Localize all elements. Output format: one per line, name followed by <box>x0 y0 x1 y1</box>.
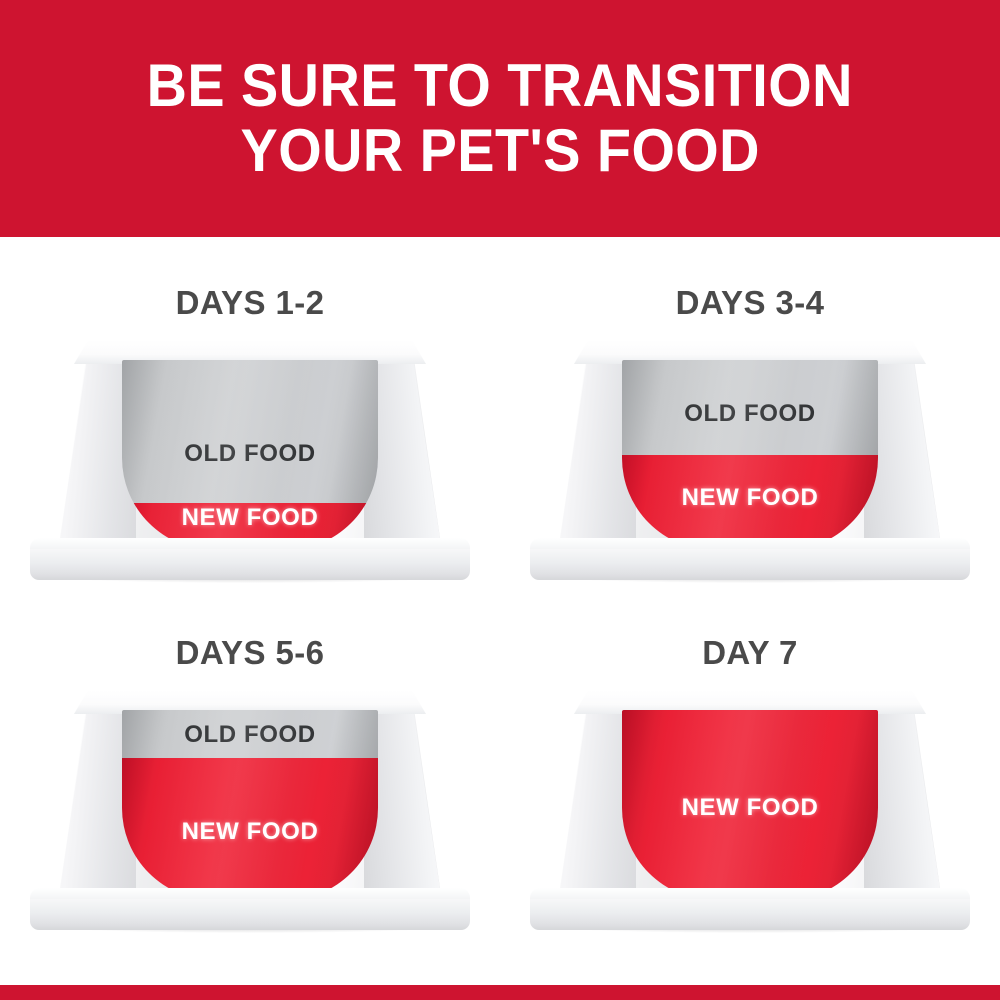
food-stack: OLD FOOD NEW FOOD <box>622 360 878 550</box>
old-food-label: OLD FOOD <box>184 721 315 749</box>
bowl-title: DAY 7 <box>500 634 1000 672</box>
new-food-label: NEW FOOD <box>182 504 319 532</box>
old-food-portion: OLD FOOD <box>122 710 378 758</box>
new-food-portion: NEW FOOD <box>622 710 878 900</box>
bowl-illustration: OLD FOOD NEW FOOD <box>530 340 970 585</box>
food-stack: OLD FOOD NEW FOOD <box>122 360 378 550</box>
header-title-line-1: BE SURE TO TRANSITION <box>147 54 853 118</box>
new-food-label: NEW FOOD <box>682 794 819 822</box>
new-food-label: NEW FOOD <box>682 484 819 512</box>
bowl-food-well: OLD FOOD NEW FOOD <box>122 710 378 900</box>
bowl-illustration: OLD FOOD NEW FOOD <box>30 690 470 935</box>
old-food-label: OLD FOOD <box>684 400 815 428</box>
bowl-illustration: OLD FOOD NEW FOOD <box>30 340 470 585</box>
bowl-cell-days-1-2: DAYS 1-2 OLD FOOD NEW FOOD <box>0 262 500 622</box>
bowl-title: DAYS 3-4 <box>500 284 1000 322</box>
bowl-food-well: NEW FOOD <box>622 710 878 900</box>
food-stack: OLD FOOD NEW FOOD <box>122 710 378 900</box>
bowl-food-well: OLD FOOD NEW FOOD <box>122 360 378 550</box>
old-food-label: OLD FOOD <box>184 440 315 468</box>
bowl-title: DAYS 5-6 <box>0 634 500 672</box>
new-food-label: NEW FOOD <box>182 818 319 846</box>
bowls-grid: DAYS 1-2 OLD FOOD NEW FOOD <box>0 237 1000 985</box>
new-food-portion: NEW FOOD <box>122 758 378 901</box>
header-title-line-2: YOUR PET'S FOOD <box>240 119 759 183</box>
bowl-base-highlight <box>30 888 470 899</box>
infographic-page: BE SURE TO TRANSITION YOUR PET'S FOOD DA… <box>0 0 1000 1000</box>
bowl-cell-days-5-6: DAYS 5-6 OLD FOOD NEW FOOD <box>0 612 500 972</box>
bowl-food-well: OLD FOOD NEW FOOD <box>622 360 878 550</box>
footer-bar <box>0 985 1000 1000</box>
header-banner: BE SURE TO TRANSITION YOUR PET'S FOOD <box>0 0 1000 237</box>
old-food-portion: OLD FOOD <box>122 360 378 503</box>
bowl-base-highlight <box>530 888 970 899</box>
bowl-illustration: NEW FOOD <box>530 690 970 935</box>
old-food-portion: OLD FOOD <box>622 360 878 455</box>
bowl-cell-days-3-4: DAYS 3-4 OLD FOOD NEW FOOD <box>500 262 1000 622</box>
bowl-base-highlight <box>30 538 470 549</box>
bowl-base-highlight <box>530 538 970 549</box>
bowl-cell-day-7: DAY 7 NEW FOOD <box>500 612 1000 972</box>
food-stack: NEW FOOD <box>622 710 878 900</box>
new-food-portion: NEW FOOD <box>622 455 878 550</box>
bowl-title: DAYS 1-2 <box>0 284 500 322</box>
